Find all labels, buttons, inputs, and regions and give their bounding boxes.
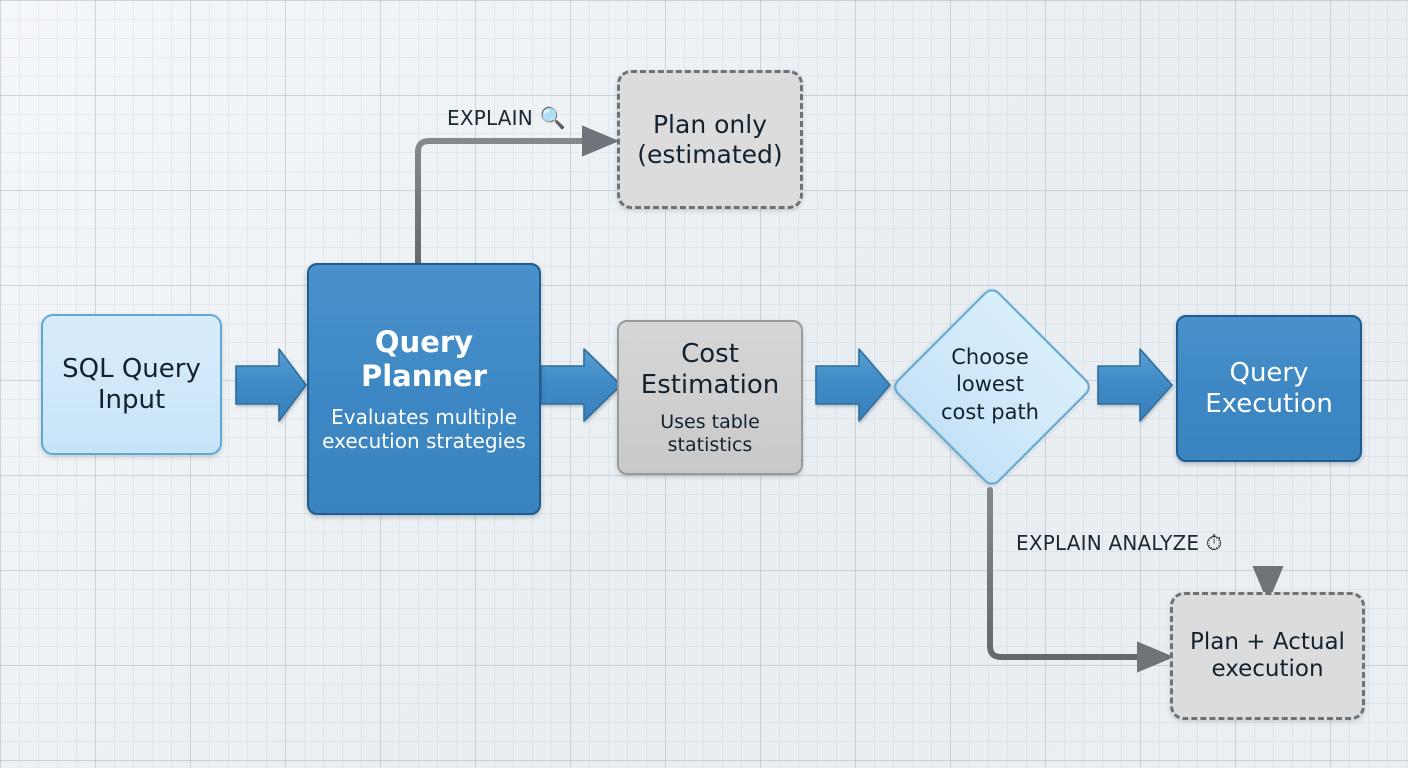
node-title-line2: lowest [920, 371, 1060, 398]
node-subtitle: Evaluates multiple [331, 406, 517, 430]
node-title: Query [375, 325, 473, 359]
node-title: Plan only [653, 110, 767, 140]
node-title: Plan + Actual [1190, 629, 1345, 656]
magnifying-glass-icon: 🔍 [540, 106, 566, 130]
node-subtitle-line2: statistics [668, 434, 753, 456]
edge-label-explain-text: EXPLAIN [447, 106, 533, 130]
node-sql-query-input[interactable]: SQL Query Input [41, 314, 222, 455]
arrow-decision-to-execution [1098, 349, 1172, 421]
edge-label-explain-analyze: EXPLAIN ANALYZE ⏱ [1016, 531, 1222, 556]
node-title-line2: Estimation [641, 370, 779, 401]
diamond-text: Choose lowest cost path [920, 344, 1060, 426]
node-subtitle-line2: execution strategies [322, 430, 526, 454]
node-query-execution[interactable]: Query Execution [1176, 315, 1362, 462]
edge-label-explain: EXPLAIN 🔍 [447, 106, 566, 131]
connector-decision-to-plan-actual [990, 490, 1155, 657]
node-title-line2: Execution [1205, 389, 1333, 420]
node-title: Cost [681, 339, 739, 370]
connector-planner-to-plan-only [418, 141, 600, 268]
node-subtitle: cost path [920, 399, 1060, 426]
node-plan-plus-actual[interactable]: Plan + Actual execution [1170, 592, 1365, 720]
arrow-planner-to-cost [541, 349, 621, 421]
node-title-line2: Planner [361, 359, 487, 393]
node-cost-estimation[interactable]: Cost Estimation Uses table statistics [617, 320, 803, 475]
node-plan-only[interactable]: Plan only (estimated) [617, 70, 803, 209]
node-title: SQL Query [62, 354, 201, 385]
node-subtitle: Uses table [660, 411, 760, 433]
node-title-line2: execution [1211, 656, 1323, 683]
stopwatch-icon: ⏱ [1206, 531, 1223, 555]
node-title-line2: (estimated) [637, 140, 782, 170]
diagram-canvas: SQL Query Input Query Planner Evaluates … [0, 0, 1408, 768]
node-choose-lowest-cost-path[interactable]: Choose lowest cost path [920, 315, 1060, 455]
arrow-input-to-planner [236, 349, 306, 421]
arrow-cost-to-decision [816, 349, 890, 421]
node-title-line2: Input [98, 385, 165, 416]
node-title: Query [1229, 358, 1308, 389]
node-title: Choose [920, 344, 1060, 371]
edge-label-explain-analyze-text: EXPLAIN ANALYZE [1016, 531, 1199, 555]
node-query-planner[interactable]: Query Planner Evaluates multiple executi… [307, 263, 541, 515]
